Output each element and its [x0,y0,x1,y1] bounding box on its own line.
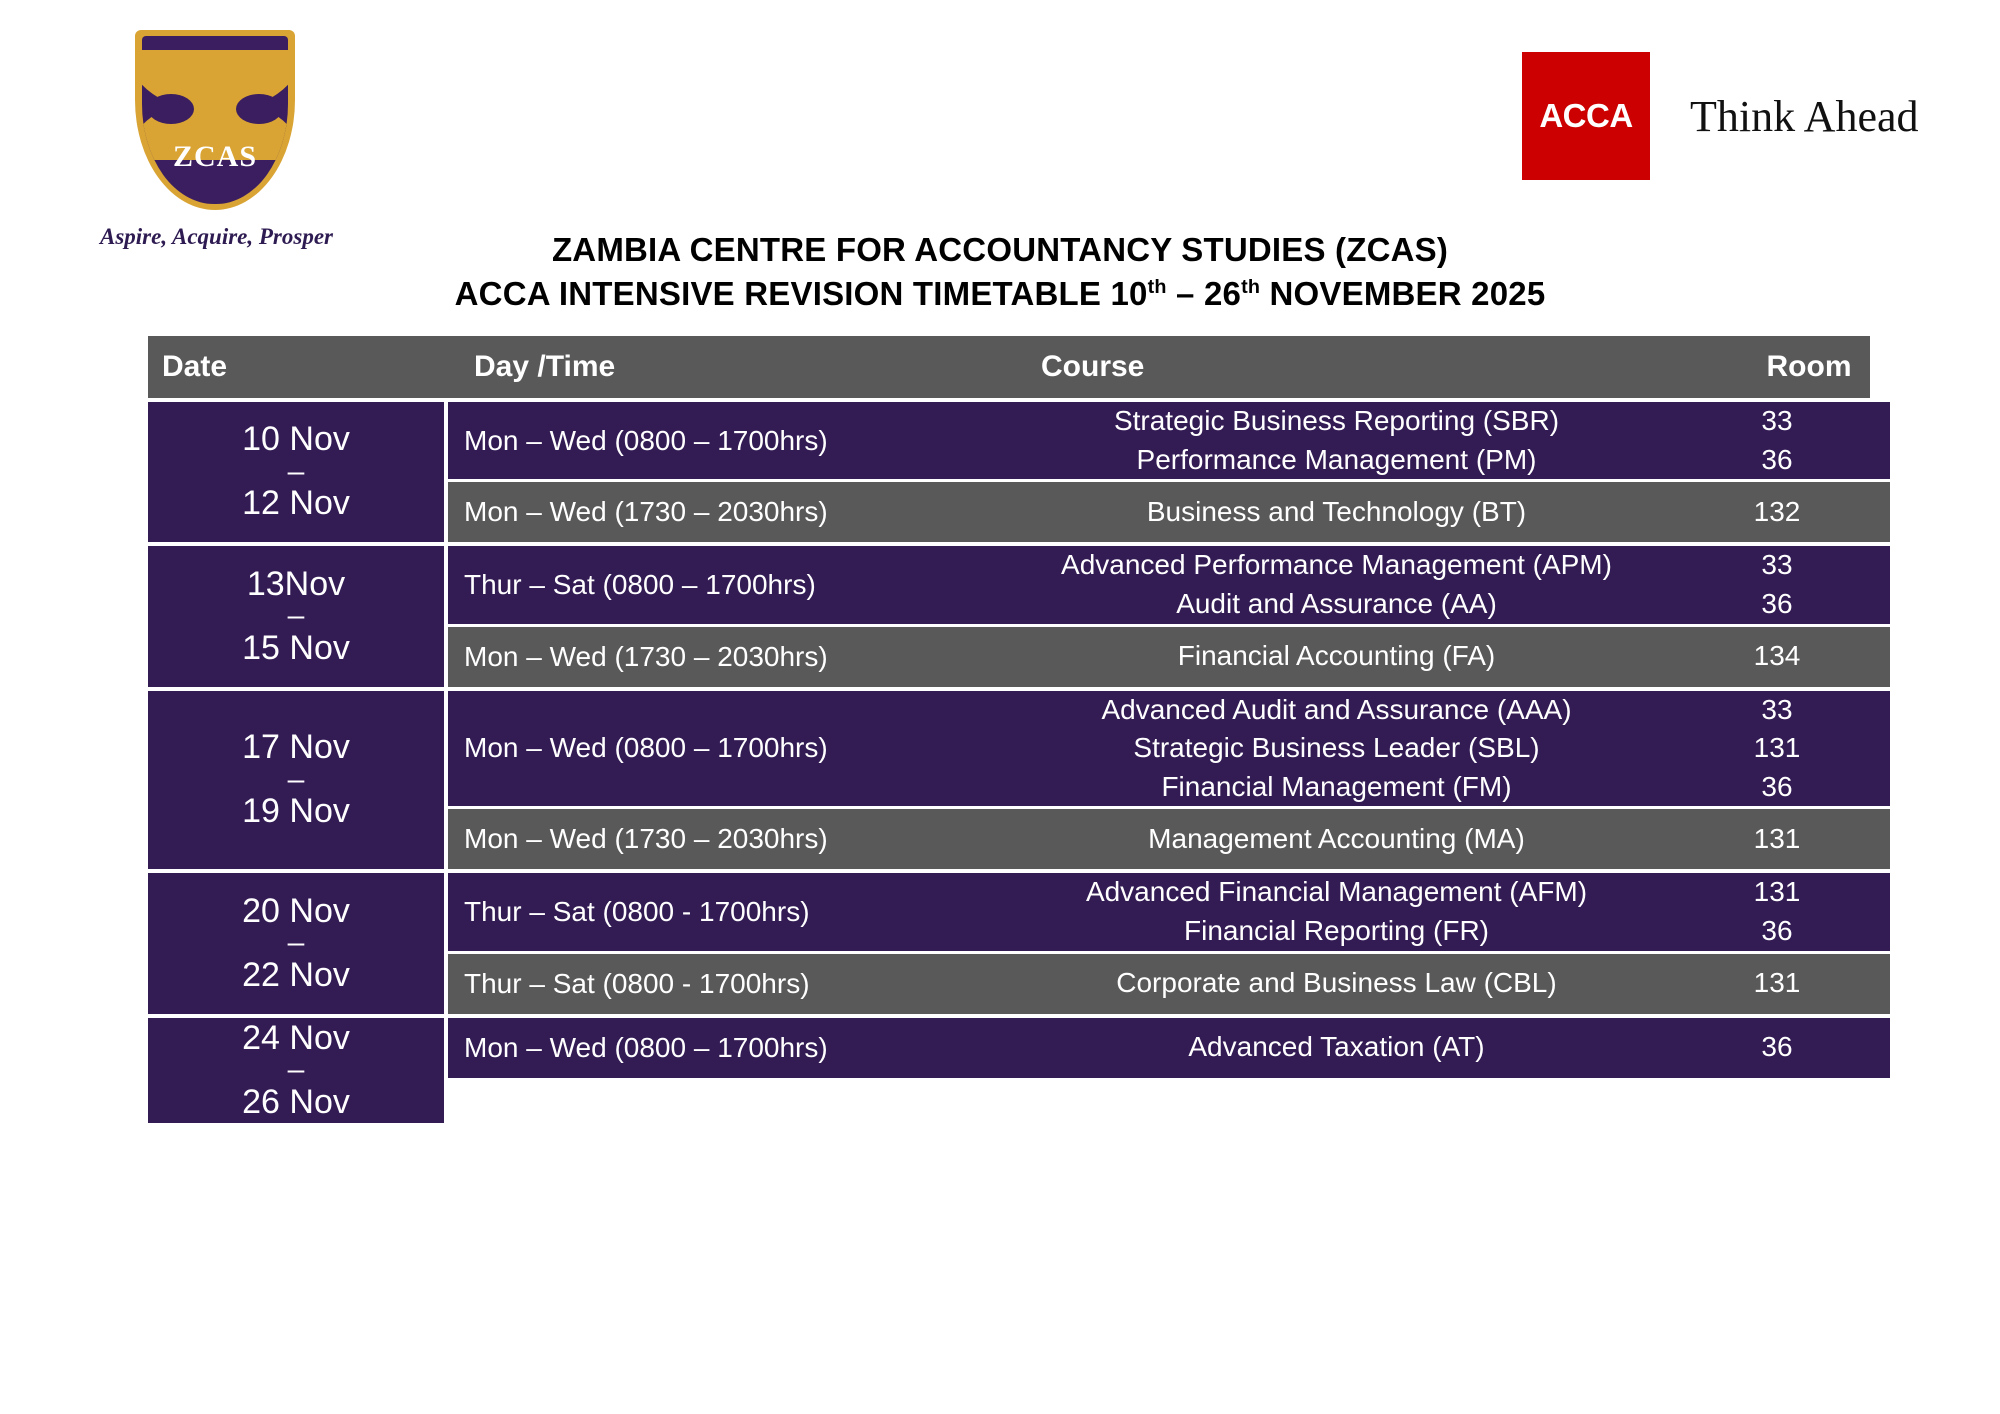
table-row: Thur – Sat (0800 - 1700hrs)Advanced Fina… [448,873,1890,950]
course-name: Financial Reporting (FR) [1009,912,1664,951]
acca-logo-text: ACCA [1539,97,1632,135]
course-name: Strategic Business Reporting (SBR) [1009,402,1664,441]
session-courses: Strategic Business Reporting (SBR)Perfor… [1009,402,1664,479]
session-daytime: Mon – Wed (0800 – 1700hrs) [448,1032,1009,1064]
room-number: 131 [1664,964,1890,1003]
room-number: 36 [1664,1028,1890,1067]
session-rooms: 3336 [1664,402,1890,479]
session-courses: Advanced Financial Management (AFM)Finan… [1009,873,1664,950]
session-courses: Financial Accounting (FA) [1009,637,1664,676]
room-number: 131 [1664,820,1890,859]
session-rooms: 3336 [1664,546,1890,623]
date-range-dash: – [288,1059,305,1082]
course-name: Strategic Business Leader (SBL) [1009,729,1664,768]
date-range-dash: – [288,605,305,628]
table-row: Mon – Wed (0800 – 1700hrs)Advanced Audit… [448,691,1890,807]
date-cell: 10 Nov–12 Nov [148,402,448,542]
shield-notch-right [236,94,282,124]
title-line-2-pre: ACCA INTENSIVE REVISION TIMETABLE 10 [455,275,1148,312]
date-range-dash: – [288,769,305,792]
room-number: 33 [1664,691,1890,730]
shield-notch-left [148,94,194,124]
session-rooms: 132 [1664,493,1890,532]
course-name: Advanced Performance Management (APM) [1009,546,1664,585]
session-daytime: Thur – Sat (0800 - 1700hrs) [448,896,1009,928]
course-name: Advanced Audit and Assurance (AAA) [1009,691,1664,730]
course-name: Management Accounting (MA) [1009,820,1664,859]
table-row: Mon – Wed (0800 – 1700hrs)Strategic Busi… [448,402,1890,479]
table-body: 10 Nov–12 NovMon – Wed (0800 – 1700hrs)S… [148,398,1870,1123]
course-name: Audit and Assurance (AA) [1009,585,1664,624]
date-cell: 17 Nov–19 Nov [148,691,448,870]
course-name: Advanced Taxation (AT) [1009,1028,1664,1067]
table-header-row: Date Day /Time Course Room [148,336,1870,398]
zcas-shield-text: ZCAS [142,140,288,174]
session-rooms: 134 [1664,637,1890,676]
zcas-logo: ZCAS Aspire, Acquire, Prosper [100,30,330,250]
room-number: 134 [1664,637,1890,676]
course-name: Corporate and Business Law (CBL) [1009,964,1664,1003]
session-rows: Mon – Wed (0800 – 1700hrs)Advanced Taxat… [448,1018,1890,1123]
session-rows: Thur – Sat (0800 - 1700hrs)Advanced Fina… [448,873,1890,1013]
table-row: Mon – Wed (1730 – 2030hrs)Financial Acco… [448,624,1890,687]
room-number: 36 [1664,768,1890,807]
session-daytime: Mon – Wed (0800 – 1700hrs) [448,425,1009,457]
title-line-1: ZAMBIA CENTRE FOR ACCOUNTANCY STUDIES (Z… [320,228,1680,272]
title-line-2: ACCA INTENSIVE REVISION TIMETABLE 10th –… [320,272,1680,316]
timetable-group: 20 Nov–22 NovThur – Sat (0800 - 1700hrs)… [148,869,1870,1013]
session-courses: Advanced Audit and Assurance (AAA)Strate… [1009,691,1664,807]
table-row: Mon – Wed (0800 – 1700hrs)Advanced Taxat… [448,1018,1890,1078]
timetable-group: 10 Nov–12 NovMon – Wed (0800 – 1700hrs)S… [148,398,1870,542]
table-row: Mon – Wed (1730 – 2030hrs)Business and T… [448,479,1890,542]
title-sup-10th: th [1148,276,1167,298]
session-courses: Business and Technology (BT) [1009,493,1664,532]
timetable: Date Day /Time Course Room 10 Nov–12 Nov… [148,336,1870,1123]
session-daytime: Mon – Wed (1730 – 2030hrs) [448,641,1009,673]
table-row: Thur – Sat (0800 – 1700hrs)Advanced Perf… [448,546,1890,623]
column-header-course: Course [1019,350,1696,384]
session-rooms: 131 [1664,964,1890,1003]
date-range-dash: – [288,932,305,955]
session-rooms: 13136 [1664,873,1890,950]
date-cell: 24 Nov–26 Nov [148,1018,448,1123]
course-name: Advanced Financial Management (AFM) [1009,873,1664,912]
session-daytime: Mon – Wed (0800 – 1700hrs) [448,732,1009,764]
column-header-daytime: Day /Time [458,350,1019,384]
room-number: 33 [1664,402,1890,441]
course-name: Financial Management (FM) [1009,768,1664,807]
acca-logo-mark: ACCA [1522,52,1650,180]
column-header-date: Date [148,350,458,384]
date-range-dash: – [288,461,305,484]
shield-icon: ZCAS [135,30,295,210]
title-line-2-post: NOVEMBER 2025 [1260,275,1545,312]
column-header-room: Room [1696,350,1922,384]
date-end: 22 Nov [242,955,350,996]
date-end: 26 Nov [242,1082,350,1123]
session-daytime: Thur – Sat (0800 - 1700hrs) [448,968,1009,1000]
room-number: 36 [1664,585,1890,624]
page-header: ZCAS Aspire, Acquire, Prosper ACCA Think… [0,0,2000,300]
room-number: 131 [1664,873,1890,912]
course-name: Financial Accounting (FA) [1009,637,1664,676]
timetable-group: 17 Nov–19 NovMon – Wed (0800 – 1700hrs)A… [148,687,1870,870]
session-rows: Mon – Wed (0800 – 1700hrs)Strategic Busi… [448,402,1890,542]
session-rows: Mon – Wed (0800 – 1700hrs)Advanced Audit… [448,691,1890,870]
room-number: 132 [1664,493,1890,532]
session-daytime: Thur – Sat (0800 – 1700hrs) [448,569,1009,601]
date-end: 12 Nov [242,483,350,524]
title-sup-26th: th [1241,276,1260,298]
session-daytime: Mon – Wed (1730 – 2030hrs) [448,823,1009,855]
page-title: ZAMBIA CENTRE FOR ACCOUNTANCY STUDIES (Z… [320,228,1680,315]
course-name: Business and Technology (BT) [1009,493,1664,532]
room-number: 131 [1664,729,1890,768]
room-number: 36 [1664,441,1890,480]
course-name: Performance Management (PM) [1009,441,1664,480]
session-courses: Advanced Performance Management (APM)Aud… [1009,546,1664,623]
date-cell: 20 Nov–22 Nov [148,873,448,1013]
room-number: 33 [1664,546,1890,585]
session-rooms: 3313136 [1664,691,1890,807]
zcas-tagline: Aspire, Acquire, Prosper [100,224,330,250]
date-cell: 13Nov–15 Nov [148,546,448,686]
session-rooms: 36 [1664,1028,1890,1067]
session-rows: Thur – Sat (0800 – 1700hrs)Advanced Perf… [448,546,1890,686]
session-courses: Advanced Taxation (AT) [1009,1028,1664,1067]
table-row: Thur – Sat (0800 - 1700hrs)Corporate and… [448,951,1890,1014]
room-number: 36 [1664,912,1890,951]
timetable-group: 13Nov–15 NovThur – Sat (0800 – 1700hrs)A… [148,542,1870,686]
date-end: 19 Nov [242,791,350,832]
timetable-group: 24 Nov–26 NovMon – Wed (0800 – 1700hrs)A… [148,1014,1870,1123]
acca-tagline: Think Ahead [1690,91,1919,142]
date-end: 15 Nov [242,628,350,669]
acca-logo: ACCA Think Ahead [1522,52,1919,180]
title-line-2-mid: – 26 [1167,275,1241,312]
table-row: Mon – Wed (1730 – 2030hrs)Management Acc… [448,806,1890,869]
session-courses: Corporate and Business Law (CBL) [1009,964,1664,1003]
session-courses: Management Accounting (MA) [1009,820,1664,859]
session-daytime: Mon – Wed (1730 – 2030hrs) [448,496,1009,528]
session-rooms: 131 [1664,820,1890,859]
